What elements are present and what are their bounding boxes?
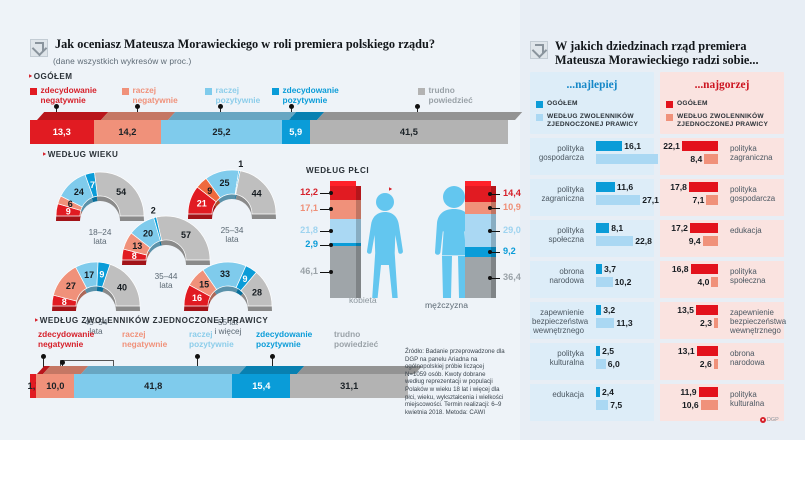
row-category-label: edukacja (730, 226, 782, 235)
section-label-overall-text: OGÓŁEM (34, 72, 73, 81)
gauge-slice-value: 2 (151, 206, 156, 216)
row-bar-value-0: 16,1 (624, 141, 641, 151)
chart-wiek-45-54: 8271794045–54 lata (36, 250, 156, 312)
table-row[interactable]: edukacja2,47,5 (530, 384, 654, 421)
bar-top-face-2 (37, 366, 422, 374)
gauge-slice-value: 54 (116, 187, 126, 197)
left-title-text: Jak oceniasz Mateusza Morawieckiego w ro… (55, 38, 435, 52)
arrow-marker-icon: ‣ (28, 72, 32, 81)
col1-legend-0: OGÓŁEM (666, 100, 708, 108)
row-bar-series-1 (714, 359, 718, 369)
left-page-title: Jak oceniasz Mateusza Morawieckiego w ro… (30, 38, 500, 57)
bar-segment: 10,0 (36, 374, 74, 398)
vbar-leader-line (320, 209, 329, 210)
bar-top-face (37, 112, 522, 120)
col1-swatch-1 (666, 114, 673, 121)
row-bar-series-1 (596, 236, 633, 246)
row-bar-value-0: 3,2 (603, 305, 615, 315)
column-title-najgorzej: ...najgorzej (660, 79, 784, 91)
vbar-leader-line (320, 272, 329, 273)
legend-item-0: zdecydowanie negatywnie (30, 86, 122, 105)
gauge-slice-value: 7 (90, 180, 95, 190)
col1-swatch-0 (666, 101, 673, 108)
col1-legend-1: WEDŁUG ZWOLENNIKÓW ZJEDNOCZONEJ PRAWICY (666, 113, 782, 129)
gauge-svg: 161533928 (168, 250, 288, 317)
row-bar-value-0: 22,1 (660, 141, 680, 151)
gauge-svg: 82717940 (36, 250, 156, 317)
row-category-label: polityka społeczna (730, 267, 782, 285)
bar-segment: 15,4 (232, 374, 290, 398)
bar-segment-value: 14,2 (94, 127, 162, 137)
row-bar-value-1: 6,0 (608, 359, 620, 369)
legend2-item-0: zdecydowanie negatywnie (38, 330, 130, 349)
row-bar-series-1 (701, 400, 718, 410)
legend-label-2: raczej pozytywnie (216, 86, 261, 105)
row-category-label: obrona narodowa (730, 349, 782, 367)
gauge-slice-value: 17 (84, 270, 94, 280)
gauge-slice-value: 9 (99, 270, 104, 280)
vbar-value-label: 17,1 (286, 203, 318, 213)
row-bar-value-1: 7,5 (610, 400, 622, 410)
vbar-segment-side (356, 246, 361, 298)
vbar-leader-dot (329, 229, 333, 233)
row-category-label: zapewnienie bezpieczeństwa wewnętrznego (532, 308, 584, 336)
row-bar-series-0 (596, 346, 600, 356)
row-category-label: polityka kulturalna (532, 349, 584, 367)
gauge-slice-value: 40 (117, 282, 127, 292)
row-bar-value-1: 4,0 (689, 277, 709, 287)
row-category-label: polityka gospodarcza (532, 144, 584, 162)
table-row[interactable]: zapewnienie bezpieczeństwa wewnętrznego3… (530, 302, 654, 339)
vbar-leader-line (491, 208, 500, 209)
column-head-najgorzej: ...najgorzej OGÓŁEM WEDŁUG ZWOLENNIKÓW Z… (660, 72, 784, 134)
vbar-top-cap (330, 181, 356, 186)
row-bar-series-0 (596, 264, 602, 274)
vbar-value-label: 2,9 (286, 239, 318, 249)
chart-zwolennicy-zp-stacked: 1,710,041,815,431,1 (30, 366, 408, 400)
section-label-age-text: WEDŁUG WIEKU (48, 150, 119, 159)
female-figure-icon (363, 190, 409, 300)
vbar-segment (330, 186, 356, 200)
table-row[interactable]: zapewnienie bezpieczeństwa wewnętrznego1… (660, 302, 784, 339)
legend-swatch-0 (30, 88, 37, 95)
vbar-value-label: 14,4 (503, 188, 521, 198)
row-bar-series-1 (596, 154, 658, 164)
vbar-segment (330, 246, 356, 298)
table-row[interactable]: polityka zagraniczna22,18,4 (660, 138, 784, 175)
legend2-label-1: raczej negatywnie (122, 330, 167, 349)
row-bar-series-1 (704, 154, 718, 164)
gauge-slice-value: 25 (220, 178, 230, 188)
legend2-label-0: zdecydowanie negatywnie (38, 330, 94, 349)
table-row[interactable]: obrona narodowa3,710,2 (530, 261, 654, 298)
table-row[interactable]: polityka gospodarcza16,138,0 (530, 138, 654, 175)
bar-segment: 31,1 (290, 374, 408, 398)
bar-segment-value: 31,1 (290, 381, 408, 391)
table-row[interactable]: edukacja17,29,4 (660, 220, 784, 257)
row-category-label: polityka zagraniczna (730, 144, 782, 162)
col0-swatch-0 (536, 101, 543, 108)
row-bar-series-1 (596, 195, 640, 205)
row-bar-value-1: 22,8 (635, 236, 652, 246)
vbar-leader-line (491, 252, 500, 253)
gauge-slice-value: 9 (242, 274, 247, 284)
section-label-overall: ‣OGÓŁEM (28, 72, 72, 81)
legend-label-3: zdecydowanie pozytywnie (283, 86, 339, 105)
section-label-age: ‣WEDŁUG WIEKU (42, 150, 118, 159)
row-bar-series-1 (703, 236, 718, 246)
vbar-value-label: 10,9 (503, 202, 521, 212)
legend-label-0: zdecydowanie negatywnie (41, 86, 97, 105)
col0-legend-label-1: WEDŁUG ZWOLENNIKÓW ZJEDNOCZONEJ PRAWICY (547, 113, 638, 129)
arrow-box-icon (30, 39, 48, 57)
gauge-slice-value: 28 (252, 288, 262, 298)
row-bar-series-1 (714, 318, 718, 328)
vbar-segment-side (356, 200, 361, 219)
row-bar-series-0 (689, 182, 718, 192)
bar-segment-top (168, 112, 296, 120)
section-label-gender-text: WEDŁUG PŁCI (306, 166, 369, 175)
vbar-leader-dot (329, 191, 333, 195)
col0-swatch-1 (536, 114, 543, 121)
gauge-slice-value: 20 (143, 229, 153, 239)
row-bar-series-0 (690, 223, 718, 233)
bar-segment-value: 15,4 (232, 381, 290, 391)
row-category-label: polityka gospodarcza (730, 185, 782, 203)
row-bar-value-1: 2,6 (692, 359, 712, 369)
bar-segment: 25,2 (161, 120, 281, 144)
vbar-value-label: 9,2 (503, 246, 516, 256)
gauge-slice-value: 27 (66, 281, 76, 291)
bar-segment-value: 25,2 (161, 127, 281, 137)
table-row[interactable]: polityka społeczna16,84,0 (660, 261, 784, 298)
legend2-label-3: zdecydowanie pozytywnie (256, 330, 312, 349)
bar-segment: 41,8 (74, 374, 232, 398)
legend-label-4: trudno powiedzieć (429, 86, 473, 105)
vbar-top-cap (465, 181, 491, 186)
row-bar-value-0: 2,4 (602, 387, 614, 397)
right-title-text: W jakich dziedzinach rząd premiera Mateu… (555, 40, 792, 67)
row-bar-value-0: 16,8 (669, 264, 689, 274)
gauge-slice-value: 9 (207, 186, 212, 196)
bar-segment-value: 41,5 (310, 127, 508, 137)
legend-swatch-3 (272, 88, 279, 95)
row-bar-value-1: 10,2 (615, 277, 632, 287)
row-bar-series-0 (596, 182, 615, 192)
legend-item-1: raczej negatywnie (122, 86, 214, 105)
row-bar-value-1: 9,4 (681, 236, 701, 246)
vbar-segment-side (356, 219, 361, 243)
table-row[interactable]: polityka kulturalna2,56,0 (530, 343, 654, 380)
section-label-gender: WEDŁUG PŁCI (306, 166, 369, 175)
bar-segment: 13,3 (30, 120, 94, 144)
male-figure-caption: mężczyzna (425, 300, 468, 310)
legend-swatch-4 (418, 88, 425, 95)
vbar-segment (330, 219, 356, 243)
gauge-slice-value: 16 (192, 293, 202, 303)
row-category-label: edukacja (532, 390, 584, 399)
row-category-label: polityka społeczna (532, 226, 584, 244)
row-bar-value-1: 7,1 (684, 195, 704, 205)
gauge-slice-value: 57 (181, 230, 191, 240)
credit-text: DGP (767, 417, 779, 423)
arrow-marker-icon-age: ‣ (42, 150, 46, 159)
row-bar-series-1 (596, 359, 606, 369)
row-bar-series-0 (596, 387, 600, 397)
bar-segment-top (37, 112, 108, 120)
table-row[interactable]: polityka społeczna8,122,8 (530, 220, 654, 257)
bar-segment-top (101, 112, 176, 120)
legend-swatch-1 (122, 88, 129, 95)
vbar-leader-dot (329, 243, 333, 247)
col1-legend-label-0: OGÓŁEM (677, 100, 708, 108)
row-bar-series-0 (696, 305, 718, 315)
vbar-value-label: 12,2 (286, 187, 318, 197)
legend-item-4: trudno powiedzieć (418, 86, 510, 105)
gauge-slice-value: 44 (252, 189, 262, 199)
row-bar-value-0: 13,1 (675, 346, 695, 356)
right-page-title: W jakich dziedzinach rząd premiera Mateu… (530, 40, 792, 67)
bar-segment-top (317, 112, 522, 120)
gauge-slice-value: 24 (74, 187, 84, 197)
legend2-label-2: raczej pozytywnie (189, 330, 234, 349)
row-bar-series-1 (706, 195, 718, 205)
row-bar-value-0: 17,8 (667, 182, 687, 192)
row-category-label: zapewnienie bezpieczeństwa wewnętrznego (730, 308, 782, 336)
row-bar-value-1: 8,4 (682, 154, 702, 164)
legend2-item-4: trudno powiedzieć (334, 330, 426, 349)
col1-legend-label-1: WEDŁUG ZWOLENNIKÓW ZJEDNOCZONEJ PRAWICY (677, 113, 768, 129)
source-note: Źródło: Badanie przeprowadzone dla DGP n… (405, 348, 505, 416)
table-row[interactable]: polityka kulturalna11,910,6 (660, 384, 784, 421)
table-row[interactable]: polityka zagraniczna11,627,1 (530, 179, 654, 216)
arrow-box-icon-right (530, 41, 548, 59)
bar-segment-value: 13,3 (30, 127, 94, 137)
row-bar-series-0 (699, 387, 718, 397)
row-bar-value-0: 11,9 (677, 387, 697, 397)
credit-badge: ●DGP (760, 417, 779, 423)
row-bar-series-1 (711, 277, 718, 287)
row-bar-series-0 (691, 264, 718, 274)
row-bar-series-0 (697, 346, 718, 356)
vbar-leader-line (491, 278, 500, 279)
row-bar-series-1 (596, 277, 613, 287)
gauge-slice-value: 6 (68, 199, 73, 209)
chart-wiek-55-plus: 16153392855 lat i więcej (168, 250, 288, 312)
col0-legend-0: OGÓŁEM (536, 100, 578, 108)
bottom-white-strip (0, 440, 805, 478)
row-bar-value-0: 13,5 (674, 305, 694, 315)
vbar-value-label: 21,8 (286, 225, 318, 235)
credit-dot-icon: ● (760, 417, 766, 423)
row-bar-series-0 (596, 305, 601, 315)
row-bar-value-1: 2,3 (692, 318, 712, 328)
row-bar-value-0: 17,2 (668, 223, 688, 233)
row-bar-value-1: 27,1 (642, 195, 659, 205)
bar-body-2: 1,710,041,815,431,1 (30, 374, 408, 398)
bar-segment: 5,9 (282, 120, 310, 144)
bar-segment: 41,5 (310, 120, 508, 144)
bar-segment-top (297, 366, 422, 374)
bar-segment: 14,2 (94, 120, 162, 144)
vbar-value-label: 36,4 (503, 272, 521, 282)
vbar-leader-line (491, 231, 500, 232)
section-label-supporters: ‣WEDŁUG ZWOLENNIKÓW ZJEDNOCZONEJ PRAWICY (34, 316, 268, 325)
column-head-najlepiej: ...najlepiej OGÓŁEM WEDŁUG ZWOLENNIKÓW Z… (530, 72, 654, 134)
table-row[interactable]: obrona narodowa13,12,6 (660, 343, 784, 380)
arrow-marker-icon-sup: ‣ (34, 316, 38, 325)
row-bar-value-1: 11,3 (616, 318, 632, 328)
legend-swatch-2 (205, 88, 212, 95)
infographic-page: Jak oceniasz Mateusza Morawieckiego w ro… (0, 0, 805, 478)
left-subtitle: (dane wszystkich wykresów w proc.) (53, 56, 191, 66)
row-bar-series-1 (596, 400, 608, 410)
row-bar-series-0 (682, 141, 718, 151)
legend2-label-4: trudno powiedzieć (334, 330, 378, 349)
row-category-label: polityka zagraniczna (532, 185, 584, 203)
vbar-leader-line (491, 194, 500, 195)
legend-label-1: raczej negatywnie (133, 86, 178, 105)
table-row[interactable]: polityka gospodarcza17,87,1 (660, 179, 784, 216)
vbar-leader-line (320, 245, 329, 246)
vbar-segment-side (356, 186, 361, 200)
column-title-najlepiej: ...najlepiej (530, 79, 654, 91)
row-bar-series-1 (596, 318, 614, 328)
col0-legend-1: WEDŁUG ZWOLENNIKÓW ZJEDNOCZONEJ PRAWICY (536, 113, 652, 129)
row-category-label: obrona narodowa (532, 267, 584, 285)
chart-plec-kobieta (330, 186, 356, 298)
section-label-supporters-text: WEDŁUG ZWOLENNIKÓW ZJEDNOCZONEJ PRAWICY (40, 316, 269, 325)
legend-item-3: zdecydowanie pozytywnie (272, 86, 372, 105)
row-bar-value-0: 11,6 (617, 182, 633, 192)
bar-segment-value: 5,9 (282, 127, 310, 137)
row-bar-series-0 (596, 141, 622, 151)
gauge-slice-value: 33 (220, 269, 230, 279)
row-bar-series-0 (596, 223, 609, 233)
vbar-value-label: 29,0 (503, 225, 521, 235)
chart-ogolem-stacked: 13,314,225,25,941,5 (30, 112, 508, 146)
col0-legend-label-0: OGÓŁEM (547, 100, 578, 108)
gauge-slice-value: 8 (62, 297, 67, 307)
bar-segment-value: 41,8 (74, 381, 232, 391)
vbar-segment (330, 200, 356, 219)
bar-segment-top (239, 366, 304, 374)
chart-plec-mezczyzna (465, 186, 491, 298)
vbar-leader-line (320, 193, 329, 194)
bar-segment-top (81, 366, 246, 374)
row-bar-value-0: 8,1 (611, 223, 623, 233)
row-bar-value-1: 10,6 (679, 400, 699, 410)
bar-body: 13,314,225,25,941,5 (30, 120, 508, 144)
row-category-label: polityka kulturalna (730, 390, 782, 408)
bar-segment-value: 10,0 (36, 381, 74, 391)
gauge-slice-value: 15 (199, 280, 209, 290)
row-bar-value-0: 3,7 (604, 264, 616, 274)
vbar-value-label: 46,1 (286, 266, 318, 276)
row-bar-value-0: 2,5 (602, 346, 614, 356)
vbar-leader-line (320, 231, 329, 232)
gauge-slice-value: 1 (238, 159, 243, 169)
